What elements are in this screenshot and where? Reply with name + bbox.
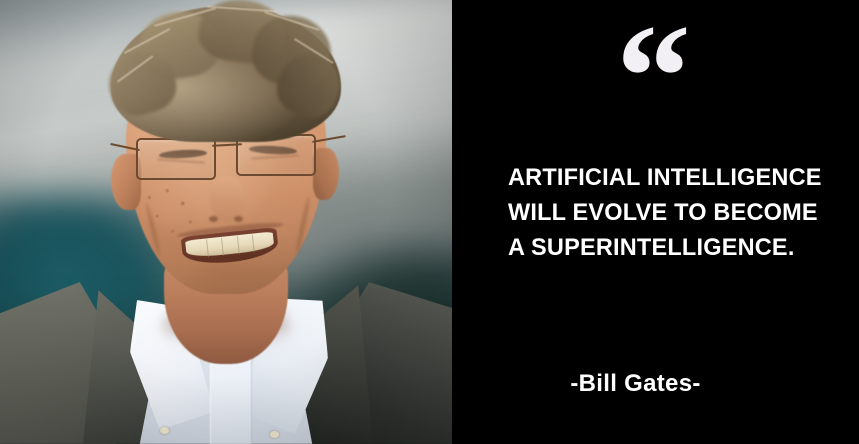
quotation-mark-icon: “	[452, 2, 859, 152]
quote-line-2: WILL EVOLVE TO BECOME	[508, 195, 825, 230]
teeth	[185, 232, 275, 259]
shirt-button-upper	[160, 427, 169, 434]
cheek-right	[263, 176, 321, 226]
shirt-button-lower	[270, 431, 279, 438]
quote-card: “ ARTIFICIAL INTELLIGENCE WILL EVOLVE TO…	[0, 0, 859, 444]
hair	[103, 6, 349, 156]
quote-panel: “ ARTIFICIAL INTELLIGENCE WILL EVOLVE TO…	[452, 0, 859, 444]
quote-line-1: ARTIFICIAL INTELLIGENCE	[508, 160, 825, 195]
subject-head	[115, 36, 337, 304]
quote-line-3: A SUPERINTELLIGENCE.	[508, 230, 825, 265]
nostril-right	[234, 216, 243, 222]
quote-attribution: -Bill Gates-	[452, 370, 859, 398]
chin-shadow	[184, 262, 270, 292]
quote-text: ARTIFICIAL INTELLIGENCE WILL EVOLVE TO B…	[508, 160, 838, 265]
nostril-left	[209, 216, 218, 222]
portrait-photo	[0, 0, 452, 444]
